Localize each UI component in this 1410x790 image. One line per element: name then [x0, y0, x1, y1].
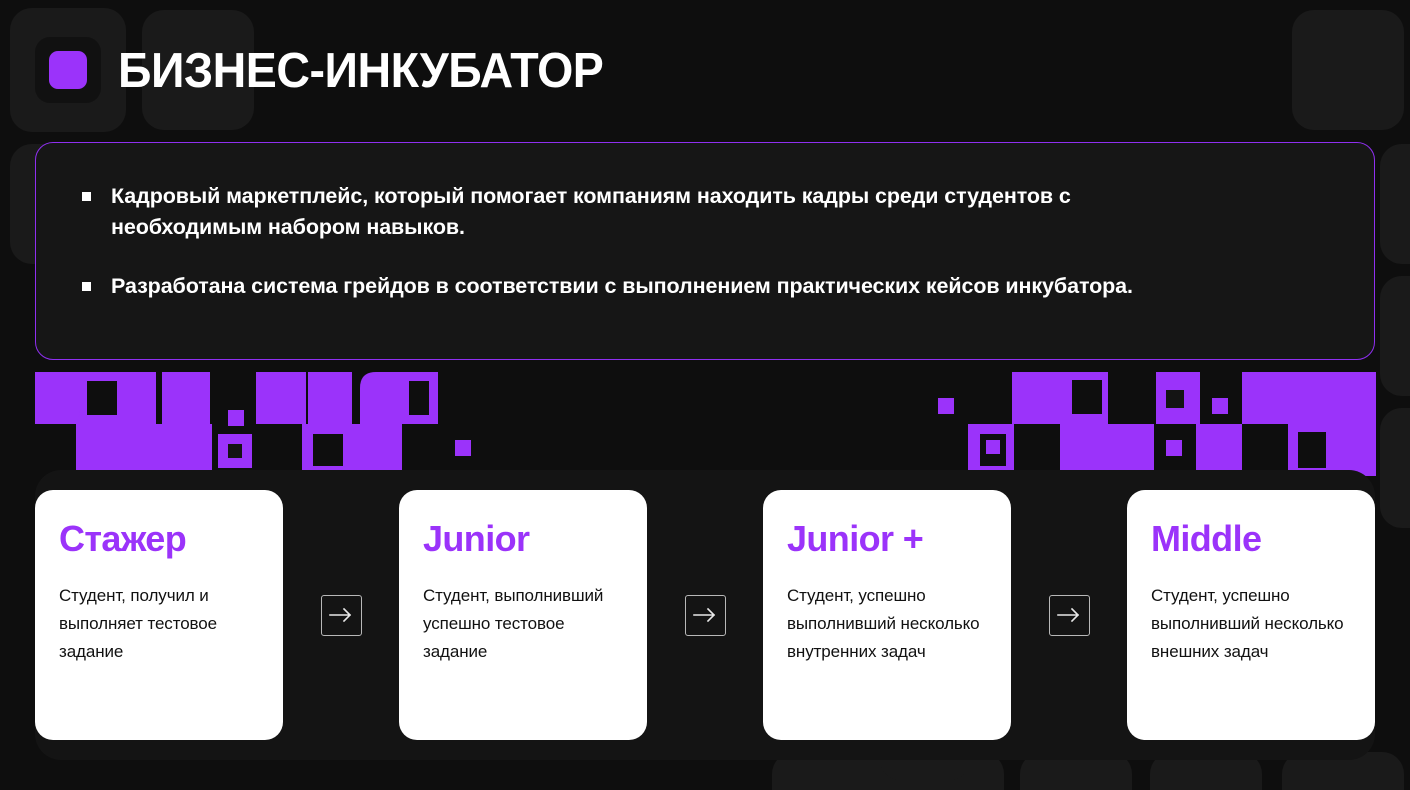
grade-card-2[interactable]: Junior Студент, выполнивший успешно тест… [399, 490, 647, 740]
bullet-text: Разработана система грейдов в соответств… [111, 271, 1133, 302]
grade-card-3[interactable]: Junior + Студент, успешно выполнивший не… [763, 490, 1011, 740]
list-item: Разработана система грейдов в соответств… [82, 271, 1328, 302]
bg-shape-right-mid-2 [1380, 276, 1410, 396]
grade-description: Студент, успешно выполнивший несколько в… [1151, 582, 1351, 666]
arrow-right-icon[interactable] [1049, 595, 1090, 636]
grade-card-1[interactable]: Стажер Студент, получил и выполняет тест… [35, 490, 283, 740]
arrow-gap-2 [647, 595, 763, 636]
grade-description: Студент, выполнивший успешно тестовое за… [423, 582, 623, 666]
bg-shape-right-low [1380, 408, 1410, 528]
grade-card-4[interactable]: Middle Студент, успешно выполнивший неск… [1127, 490, 1375, 740]
bullet-text: Кадровый маркетплейс, который помогает к… [111, 181, 1186, 243]
arrow-right-icon[interactable] [321, 595, 362, 636]
grade-title: Middle [1151, 518, 1351, 560]
arrow-right-icon[interactable] [685, 595, 726, 636]
grade-description: Студент, получил и выполняет тестовое за… [59, 582, 259, 666]
header: БИЗНЕС-ИНКУБАТОР [0, 0, 1410, 140]
grades-row: Стажер Студент, получил и выполняет тест… [35, 470, 1375, 760]
grade-title: Стажер [59, 518, 259, 560]
square-bullet-icon [82, 282, 91, 291]
grade-title: Junior + [787, 518, 987, 560]
list-item: Кадровый маркетплейс, который помогает к… [82, 181, 1328, 243]
square-bullet-icon [82, 192, 91, 201]
grade-title: Junior [423, 518, 623, 560]
arrow-gap-1 [283, 595, 399, 636]
bg-shape-right-mid [1380, 144, 1410, 264]
grade-description: Студент, успешно выполнивший несколько в… [787, 582, 987, 666]
slide-canvas: БИЗНЕС-ИНКУБАТОР Кадровый маркетплейс, к… [0, 0, 1410, 790]
pixel-block-pattern [0, 372, 1410, 476]
page-title: БИЗНЕС-ИНКУБАТОР [118, 40, 603, 102]
logo-icon [49, 51, 87, 89]
arrow-gap-3 [1011, 595, 1127, 636]
summary-box: Кадровый маркетплейс, который помогает к… [35, 142, 1375, 360]
logo-tile [35, 37, 101, 103]
